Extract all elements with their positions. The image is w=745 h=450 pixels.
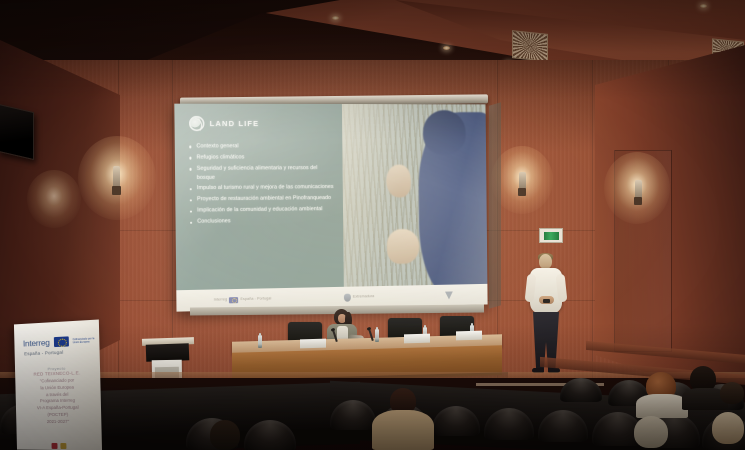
- sconce-base: [112, 186, 121, 195]
- audience-member-head: [712, 412, 744, 444]
- banner-logo-row: Interreg Cofinanciado por la Unión Europ…: [14, 319, 100, 348]
- ceiling-light: [332, 16, 339, 20]
- sconce-base: [634, 197, 642, 205]
- name-card: [404, 334, 430, 344]
- presentation-slide: LAND LIFE Contexto general Refugios clim…: [174, 104, 487, 312]
- banner-body: Proyecto RED TEIXNECO-L.E. "Cofinanciado…: [15, 353, 102, 426]
- interreg-logo: Interreg España - Portugal: [214, 296, 272, 303]
- side-door[interactable]: [614, 150, 672, 352]
- footer-logo-mark-red: [51, 442, 57, 448]
- interreg-logo-sublabel: España - Portugal: [240, 297, 271, 302]
- audience-member-head: [634, 416, 668, 448]
- slide-text-panel: LAND LIFE Contexto general Refugios clim…: [174, 104, 344, 312]
- ceiling-light: [700, 4, 707, 8]
- wall-loudspeaker: [0, 104, 34, 160]
- exit-sign: [539, 228, 563, 243]
- presenter-head: [539, 254, 552, 269]
- name-card: [300, 339, 326, 349]
- banner-footer-logos: [17, 441, 102, 450]
- junta-extremadura-logo: Extremadura: [344, 293, 374, 302]
- slide-brand: LAND LIFE: [189, 116, 335, 131]
- presenter-right-arm: [556, 274, 568, 303]
- slide-bullet: Refugios climáticos: [189, 153, 335, 162]
- interreg-wordmark: Interreg: [23, 337, 50, 348]
- screen-side-edge: [489, 102, 501, 308]
- slide-brand-title: LAND LIFE: [210, 119, 260, 128]
- eu-flag-icon: [229, 297, 238, 303]
- name-card: [456, 331, 482, 341]
- slide-bullet-list: Contexto general Refugios climáticos Seg…: [189, 142, 335, 227]
- slide-bullet: Impulso al turismo rural y mejora de las…: [190, 183, 336, 193]
- projection-screen-surface: LAND LIFE Contexto general Refugios clim…: [174, 104, 487, 312]
- land-life-logo-icon: [189, 116, 205, 131]
- partner-logo: [445, 291, 453, 299]
- projection-screen-assembly: LAND LIFE Contexto general Refugios clim…: [178, 96, 490, 321]
- water-bottle: [258, 335, 262, 348]
- auditorium-photo: LAND LIFE Contexto general Refugios clim…: [0, 0, 745, 450]
- slide-bullet: Implicación de la comunidad y educación …: [190, 205, 336, 215]
- presentation-clicker: [543, 299, 550, 303]
- banner-text-line: 2021-2027": [22, 419, 95, 426]
- audience-member-head: [720, 382, 744, 404]
- slide-bullet: Conclusiones: [190, 216, 336, 226]
- slide-bullet: Contexto general: [189, 142, 335, 151]
- banner-project-name: RED TEIXNECO-L.E.: [21, 370, 94, 377]
- audience-member-head: [210, 420, 240, 450]
- slide-bullet: Proyecto de restauración ambiental en Pi…: [190, 194, 336, 204]
- junta-extremadura-label: Extremadura: [353, 294, 375, 299]
- water-bottle: [375, 329, 379, 342]
- stand-dark-box: [146, 343, 190, 361]
- ceiling-air-vent: [512, 30, 548, 62]
- slide-bullet: Seguridad y suficiencia alimentaria y re…: [189, 164, 335, 182]
- wall-sconce: [113, 166, 120, 188]
- crest-icon: [344, 293, 351, 301]
- audience-member-shoulders: [636, 394, 688, 418]
- eu-funding-label: Cofinanciado por la Unión Europea: [72, 337, 97, 344]
- interreg-rollup-banner: Interreg Cofinanciado por la Unión Europ…: [14, 319, 102, 450]
- ceiling-light: [443, 46, 450, 50]
- slide-photo-panel: [342, 104, 487, 308]
- slide-photo-glare: [342, 104, 487, 308]
- partner-logo-icon: [445, 291, 453, 299]
- sconce-base: [518, 188, 526, 196]
- eu-flag-icon: [54, 336, 69, 347]
- footer-logo-mark-gold: [60, 442, 66, 448]
- audience-member-shoulders: [372, 410, 434, 450]
- exit-sign-glyph: [544, 232, 559, 240]
- interreg-logo-label: Interreg: [214, 298, 228, 303]
